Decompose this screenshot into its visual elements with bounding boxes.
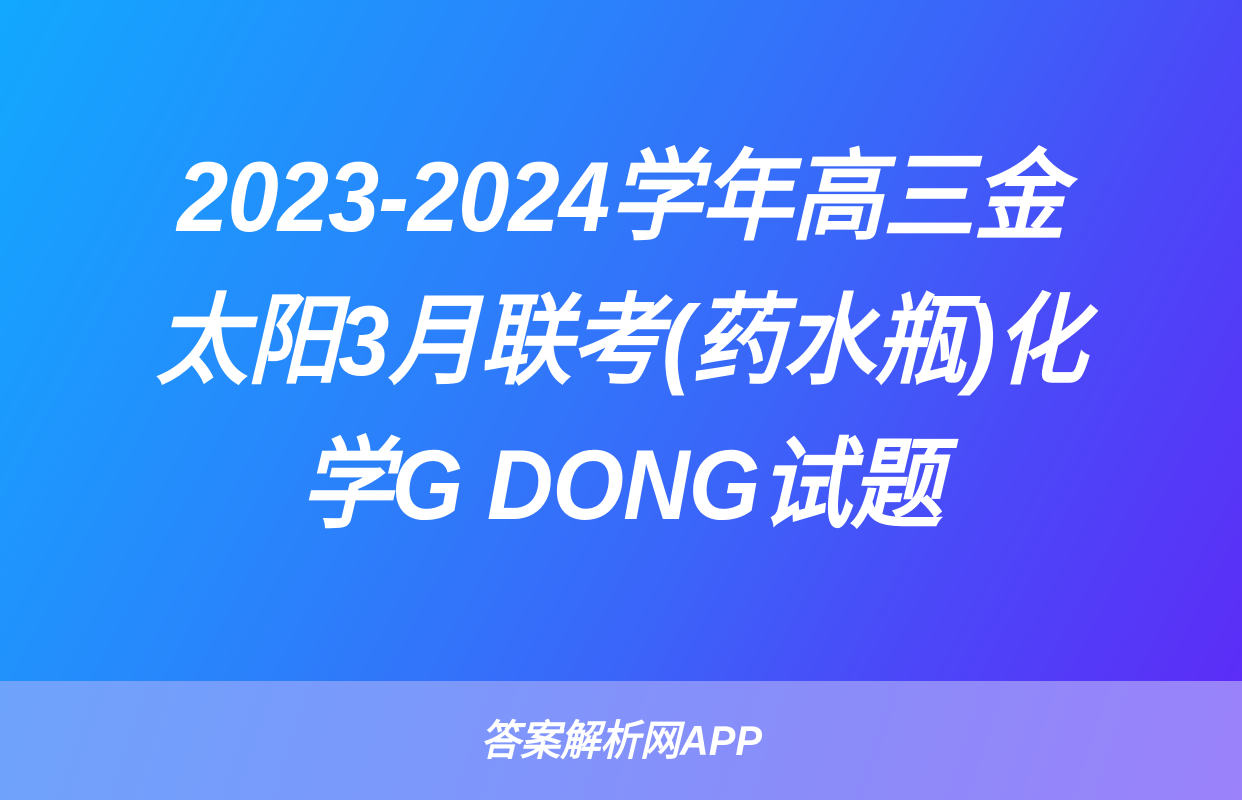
title-banner: 2023-2024学年高三金 太阳3月联考(药水瓶)化 学G DONG试题 答案… <box>0 0 1242 800</box>
title-line-3: 学G DONG试题 <box>110 413 1133 557</box>
page-title: 2023-2024学年高三金 太阳3月联考(药水瓶)化 学G DONG试题 <box>110 125 1133 557</box>
app-watermark-label: 答案解析网APP <box>480 720 762 762</box>
title-line-1: 2023-2024学年高三金 <box>110 125 1133 269</box>
title-line-2: 太阳3月联考(药水瓶)化 <box>110 269 1133 413</box>
app-watermark-bar: 答案解析网APP <box>0 681 1242 800</box>
hero-gradient-panel: 2023-2024学年高三金 太阳3月联考(药水瓶)化 学G DONG试题 <box>0 0 1242 681</box>
